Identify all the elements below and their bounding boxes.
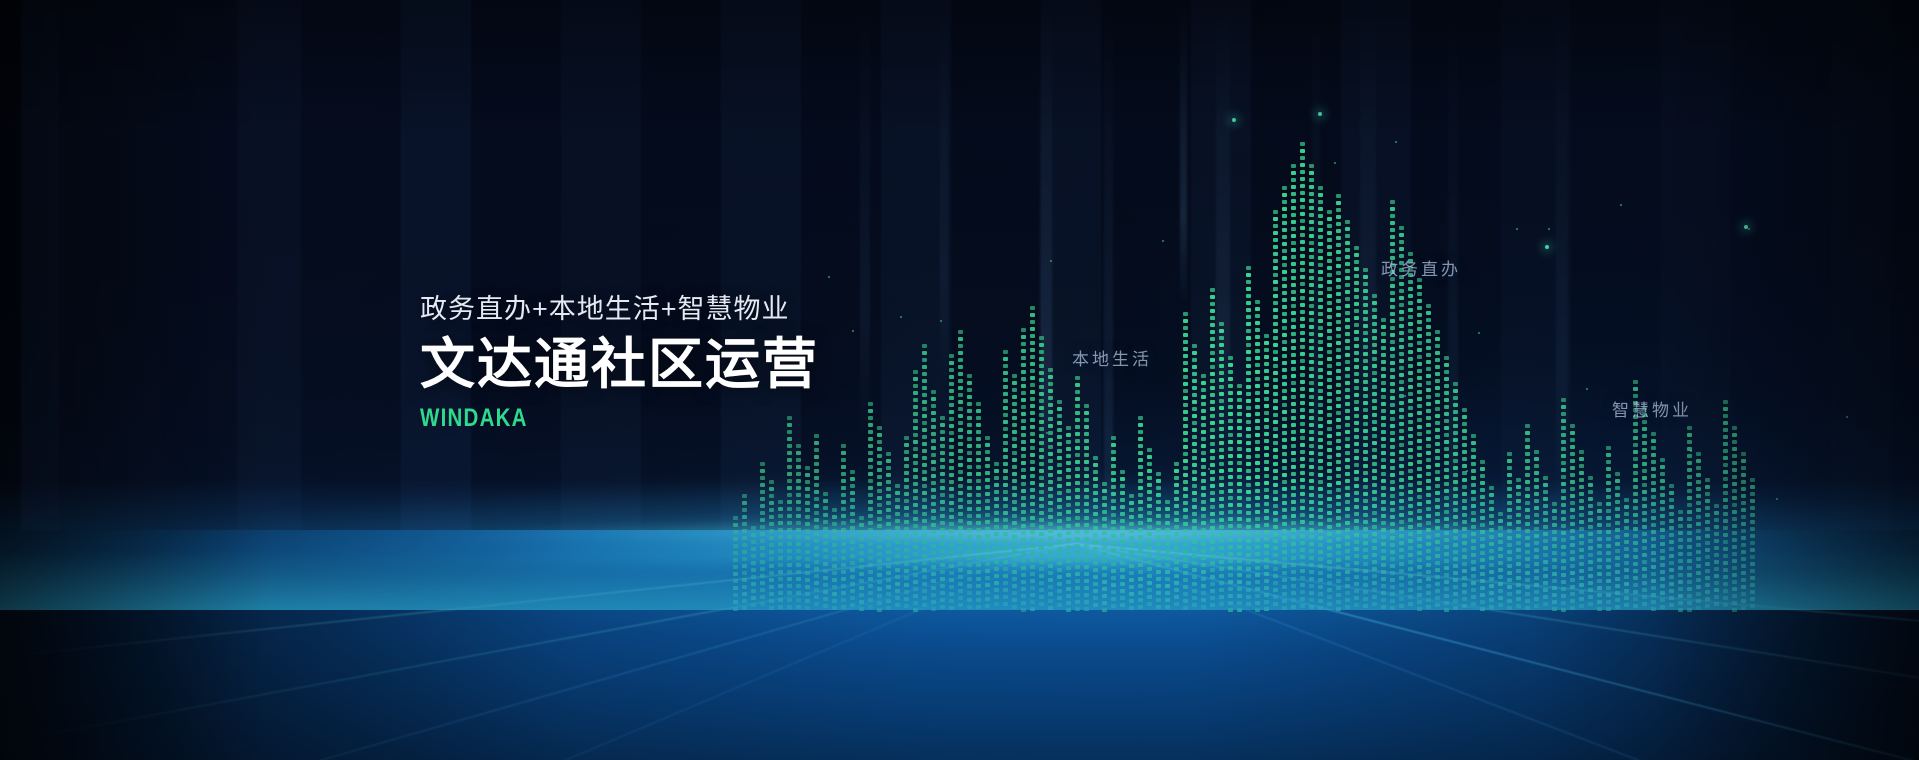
hero-banner: 本地生活政务直办智慧物业 政务直办+本地生活+智慧物业 文达通社区运营 WIND… bbox=[0, 0, 1919, 760]
city-label-group: 本地生活政务直办智慧物业 bbox=[0, 0, 1919, 760]
city-label-0: 本地生活 bbox=[1072, 345, 1152, 370]
brand-wordmark: WINDAKA bbox=[420, 406, 747, 431]
city-label-1: 政务直办 bbox=[1381, 255, 1461, 280]
banner-subtitle: 政务直办+本地生活+智慧物业 bbox=[420, 296, 819, 323]
city-label-2: 智慧物业 bbox=[1612, 396, 1692, 421]
headline-block: 政务直办+本地生活+智慧物业 文达通社区运营 WINDAKA bbox=[420, 296, 819, 431]
banner-headline: 文达通社区运营 bbox=[420, 337, 819, 392]
